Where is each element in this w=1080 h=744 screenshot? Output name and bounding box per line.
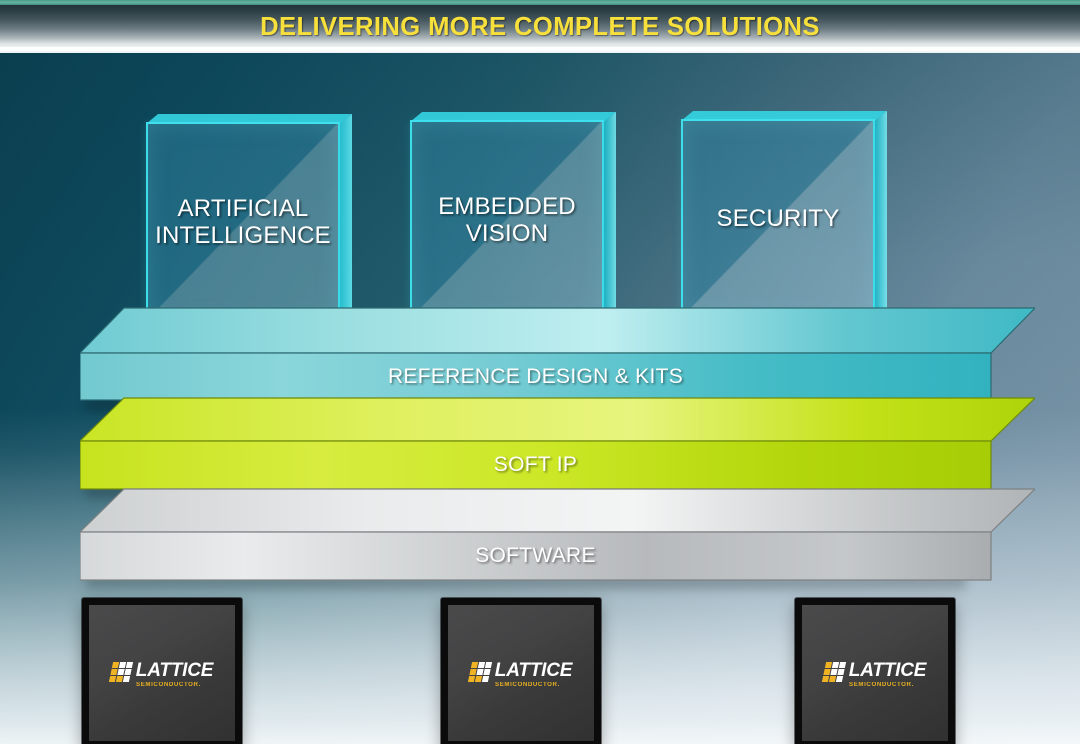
lattice-tagline: SEMICONDUCTOR. bbox=[849, 682, 928, 688]
lattice-logo-text: LATTICE SEMICONDUCTOR. bbox=[136, 662, 213, 687]
box-front-face: EMBEDDED VISION bbox=[410, 120, 604, 320]
stack-layer-label: SOFT IP bbox=[494, 453, 577, 477]
stack-layer-label: REFERENCE DESIGN & KITS bbox=[388, 365, 683, 389]
slab-front-face: SOFTWARE bbox=[80, 532, 991, 580]
slide-header: DELIVERING MORE COMPLETE SOLUTIONS bbox=[0, 0, 1080, 53]
stack-layer-soft-ip[interactable]: SOFT IP bbox=[80, 396, 1035, 496]
lattice-logo-mark bbox=[468, 662, 492, 682]
lattice-wordmark: LATTICE bbox=[136, 662, 213, 680]
solution-box-label: SECURITY bbox=[717, 205, 840, 232]
box-front-face: SECURITY bbox=[681, 119, 875, 319]
lattice-tagline: SEMICONDUCTOR. bbox=[495, 682, 574, 688]
lattice-device-1[interactable]: LATTICE SEMICONDUCTOR. bbox=[82, 598, 242, 744]
solution-box-label: ARTIFICIAL INTELLIGENCE bbox=[155, 195, 331, 250]
lattice-device-2[interactable]: LATTICE SEMICONDUCTOR. bbox=[441, 598, 601, 744]
slide-canvas: DELIVERING MORE COMPLETE SOLUTIONS bbox=[0, 0, 1080, 744]
solution-box-artificial-intelligence[interactable]: ARTIFICIAL INTELLIGENCE bbox=[146, 114, 352, 324]
lattice-tagline: SEMICONDUCTOR. bbox=[136, 682, 215, 688]
chip-die: LATTICE SEMICONDUCTOR. bbox=[802, 605, 948, 741]
stack-layer-software[interactable]: SOFTWARE bbox=[80, 487, 1035, 587]
solution-box-embedded-vision[interactable]: EMBEDDED VISION bbox=[410, 112, 616, 322]
lattice-logo-text: LATTICE SEMICONDUCTOR. bbox=[495, 662, 572, 687]
stack-layer-label: SOFTWARE bbox=[475, 544, 596, 568]
lattice-wordmark: LATTICE bbox=[495, 662, 572, 680]
page-title: DELIVERING MORE COMPLETE SOLUTIONS bbox=[8, 5, 1072, 48]
lattice-logo: LATTICE SEMICONDUCTOR. bbox=[470, 662, 572, 687]
lattice-logo-mark bbox=[109, 662, 133, 682]
slab-front-face: SOFT IP bbox=[80, 441, 991, 489]
slab-front-face: REFERENCE DESIGN & KITS bbox=[80, 353, 991, 400]
lattice-wordmark: LATTICE bbox=[849, 662, 926, 680]
stack-layer-reference-design-and-kits[interactable]: REFERENCE DESIGN & KITS bbox=[80, 305, 1035, 410]
lattice-logo-mark bbox=[822, 662, 846, 682]
chip-die: LATTICE SEMICONDUCTOR. bbox=[89, 605, 235, 741]
solution-box-label: EMBEDDED VISION bbox=[438, 193, 576, 248]
lattice-logo: LATTICE SEMICONDUCTOR. bbox=[824, 662, 926, 687]
solution-box-security[interactable]: SECURITY bbox=[681, 111, 887, 321]
chip-die: LATTICE SEMICONDUCTOR. bbox=[448, 605, 594, 741]
lattice-logo: LATTICE SEMICONDUCTOR. bbox=[111, 662, 213, 687]
lattice-device-3[interactable]: LATTICE SEMICONDUCTOR. bbox=[795, 598, 955, 744]
lattice-logo-text: LATTICE SEMICONDUCTOR. bbox=[849, 662, 926, 687]
box-front-face: ARTIFICIAL INTELLIGENCE bbox=[146, 122, 340, 322]
